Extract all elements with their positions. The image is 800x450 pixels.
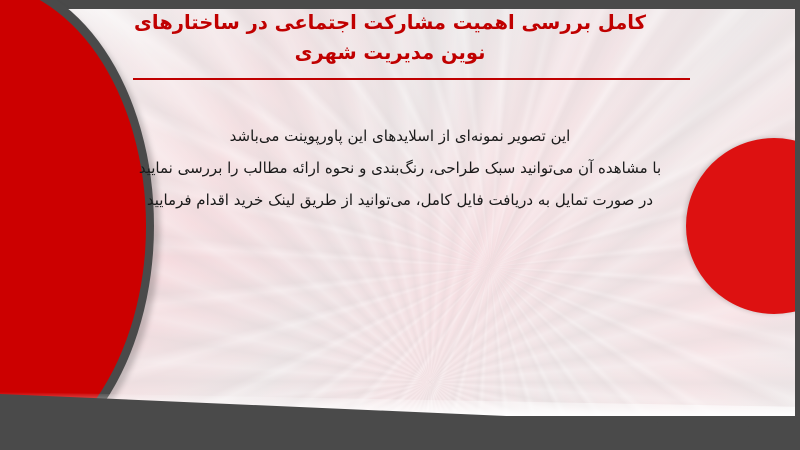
title-line-1: کامل بررسی اهمیت مشارکت اجتماعی در ساختا…	[90, 8, 690, 38]
presentation-slide: کامل بررسی اهمیت مشارکت اجتماعی در ساختا…	[0, 0, 800, 450]
body-line-2: با مشاهده آن می‌توانید سبک طراحی، رنگ‌بن…	[90, 152, 710, 184]
slide-title: کامل بررسی اهمیت مشارکت اجتماعی در ساختا…	[90, 8, 690, 68]
title-underline-rule	[133, 78, 690, 80]
body-line-1: این تصویر نمونه‌ای از اسلایدهای این پاور…	[90, 120, 710, 152]
slide-body-text: این تصویر نمونه‌ای از اسلایدهای این پاور…	[90, 120, 710, 216]
title-line-2: نوین مدیریت شهری	[90, 38, 690, 68]
body-line-3: در صورت تمایل به دریافت فایل کامل، می‌تو…	[90, 184, 710, 216]
right-dark-edge	[795, 0, 800, 450]
